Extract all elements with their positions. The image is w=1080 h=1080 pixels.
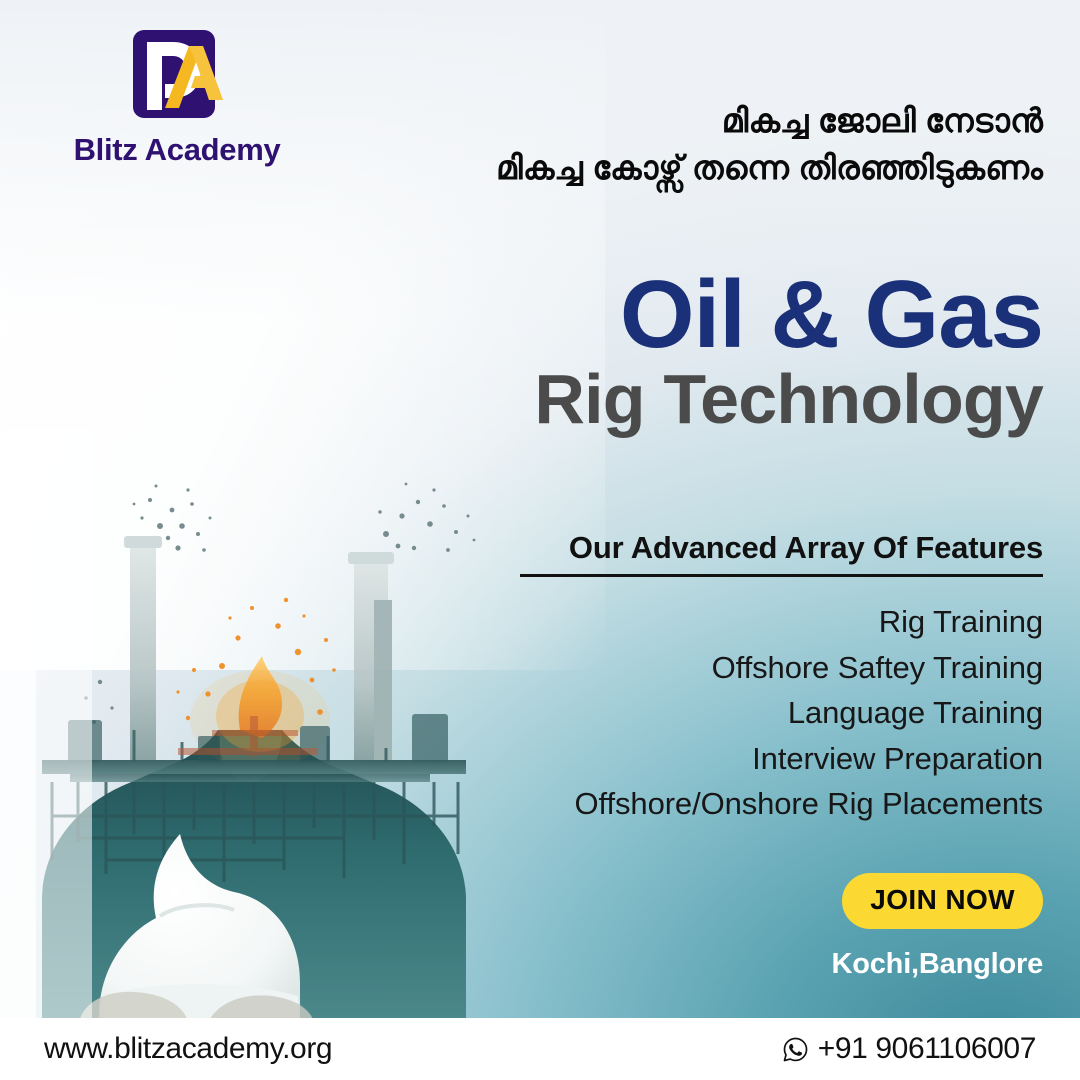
list-item: Language Training (403, 690, 1043, 736)
phone-contact[interactable]: +91 9061106007 (782, 1032, 1036, 1066)
list-item: Offshore/Onshore Rig Placements (403, 781, 1043, 827)
join-now-button[interactable]: JOIN NOW (842, 873, 1043, 929)
malayalam-headline-line-2: മികച്ച കോഴ്സ് തന്നെ തിരഞ്ഞിടുകണം (323, 145, 1043, 192)
brand-logo[interactable]: Blitz Academy (52, 26, 302, 168)
promotional-poster: Blitz Academy മികച്ച ജോലി നേടാൻ മികച്ച ക… (0, 0, 1080, 1080)
features-divider (520, 574, 1043, 577)
list-item: Interview Preparation (403, 736, 1043, 782)
malayalam-headline-line-1: മികച്ച ജോലി നേടാൻ (323, 98, 1043, 145)
features-heading: Our Advanced Array Of Features (403, 530, 1043, 574)
brand-wordmark: Blitz Academy (52, 132, 302, 168)
malayalam-headline: മികച്ച ജോലി നേടാൻ മികച്ച കോഴ്സ് തന്നെ തി… (323, 98, 1043, 192)
whatsapp-icon (782, 1036, 809, 1063)
list-item: Rig Training (403, 599, 1043, 645)
footer-bar: www.blitzacademy.org +91 9061106007 (0, 1018, 1080, 1080)
features-list: Rig Training Offshore Saftey Training La… (403, 599, 1043, 827)
features-section: Our Advanced Array Of Features Rig Train… (403, 530, 1043, 827)
location-text: Kochi,Banglore (832, 948, 1044, 981)
blitz-academy-monogram-icon (127, 26, 227, 126)
phone-number: +91 9061106007 (818, 1032, 1036, 1066)
list-item: Offshore Saftey Training (403, 645, 1043, 691)
course-title-main: Oil & Gas (283, 268, 1043, 362)
course-title: Oil & Gas Rig Technology (283, 268, 1043, 435)
course-title-sub: Rig Technology (283, 364, 1043, 435)
website-link[interactable]: www.blitzacademy.org (44, 1032, 332, 1066)
